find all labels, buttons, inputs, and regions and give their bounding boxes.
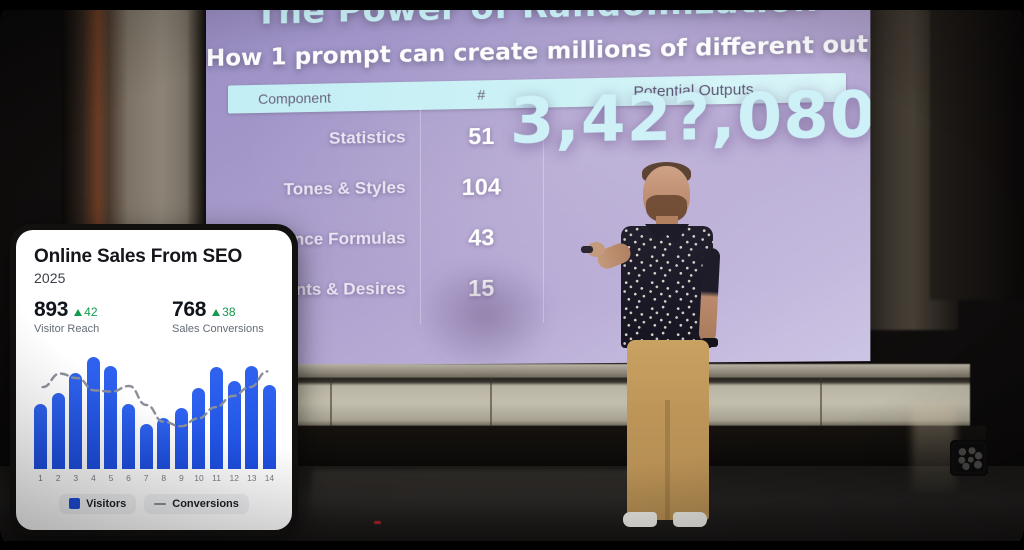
- x-tick-10: 10: [192, 473, 205, 483]
- row-count: 43: [420, 223, 543, 252]
- x-tick-2: 2: [52, 473, 65, 483]
- kpi-value: 893: [34, 298, 68, 322]
- letterbox-top: [0, 0, 1024, 10]
- legend-label: Conversions: [172, 498, 239, 510]
- bar-7[interactable]: [140, 424, 153, 469]
- x-tick-13: 13: [245, 473, 258, 483]
- kpi-delta-value: 42: [84, 305, 97, 319]
- triangle-up-icon: [74, 309, 82, 316]
- x-tick-3: 3: [69, 473, 82, 483]
- kpi-label: Sales Conversions: [172, 323, 274, 335]
- legend-item-visitors[interactable]: Visitors: [59, 494, 136, 514]
- stage-light-lens: [954, 444, 984, 472]
- row-count: 104: [420, 172, 543, 201]
- triangle-up-icon: [212, 309, 220, 316]
- stage-light-fixture: [950, 440, 988, 476]
- kpi-label: Visitor Reach: [34, 323, 154, 335]
- bar-1[interactable]: [34, 404, 47, 469]
- kpi-delta-value: 38: [222, 305, 235, 319]
- speaker-leg-seam: [665, 400, 670, 520]
- kpi-value: 768: [172, 298, 206, 322]
- legend-swatch-icon: [69, 498, 80, 509]
- bar-4[interactable]: [87, 357, 100, 469]
- card-title: Online Sales From SEO: [34, 246, 274, 268]
- speaker-right-arm: [699, 248, 721, 343]
- bar-10[interactable]: [192, 388, 205, 469]
- x-tick-4: 4: [87, 473, 100, 483]
- row-component: Tones & Styles: [228, 179, 420, 200]
- kpi-value-row: 768 38: [172, 298, 274, 322]
- kpi-visitor-reach: 893 42 Visitor Reach: [34, 298, 154, 335]
- bar-2[interactable]: [52, 393, 65, 469]
- x-tick-8: 8: [157, 473, 170, 483]
- panel-seam: [820, 378, 822, 426]
- bar-5[interactable]: [104, 366, 117, 469]
- x-tick-7: 7: [140, 473, 153, 483]
- x-tick-5: 5: [104, 473, 117, 483]
- x-axis-ticks: 1234567891011121314: [34, 473, 276, 483]
- floor-marker-tape: [374, 521, 381, 524]
- bar-3[interactable]: [69, 373, 82, 469]
- kpi-row: 893 42 Visitor Reach 768 38 Sales Conv: [34, 298, 274, 335]
- bar-8[interactable]: [157, 418, 170, 468]
- x-tick-11: 11: [210, 473, 223, 483]
- bar-14[interactable]: [263, 385, 276, 469]
- legend-item-conversions[interactable]: Conversions: [144, 494, 249, 514]
- slide-subtitle-prefix: How: [206, 45, 270, 72]
- right-wall-shadow: [930, 0, 1024, 300]
- bar-11[interactable]: [210, 367, 223, 469]
- x-tick-1: 1: [34, 473, 47, 483]
- speaker-right-shoe: [673, 512, 707, 527]
- bar-12[interactable]: [228, 381, 241, 468]
- bar-6[interactable]: [122, 404, 135, 469]
- x-tick-12: 12: [228, 473, 241, 483]
- speaker-cast-shadow: [405, 260, 565, 370]
- panel-seam: [330, 378, 332, 426]
- chart-legend[interactable]: Visitors Conversions: [34, 494, 274, 514]
- presentation-clicker: [581, 246, 593, 253]
- panel-seam: [490, 378, 492, 426]
- x-tick-6: 6: [122, 473, 135, 483]
- potential-outputs-value: 3,42?,080: [510, 78, 823, 158]
- bar-13[interactable]: [245, 366, 258, 469]
- card-year: 2025: [34, 270, 274, 286]
- legend-label: Visitors: [86, 498, 126, 510]
- chart-area[interactable]: [34, 349, 276, 469]
- stage-presentation-photo: The Power of Randomization How 1 prompt …: [0, 0, 1024, 550]
- slide-subtitle: How 1 prompt can create millions of diff…: [206, 31, 870, 72]
- slide-subtitle-suffix: prompt can create millions of different …: [287, 30, 871, 70]
- speaker-figure: [585, 150, 755, 550]
- col-header-component: Component: [228, 88, 420, 108]
- letterbox-bottom: [0, 541, 1024, 550]
- x-tick-14: 14: [263, 473, 276, 483]
- bar-series[interactable]: [34, 357, 276, 469]
- legend-dash-icon: [154, 503, 166, 505]
- kpi-sales-conversions: 768 38 Sales Conversions: [154, 298, 274, 335]
- analytics-card[interactable]: Online Sales From SEO 2025 893 42 Visito…: [16, 230, 292, 530]
- row-component: Statistics: [228, 128, 420, 149]
- x-tick-9: 9: [175, 473, 188, 483]
- bar-9[interactable]: [175, 408, 188, 468]
- speaker-left-shoe: [623, 512, 657, 527]
- kpi-delta: 42: [74, 305, 97, 319]
- kpi-delta: 38: [212, 305, 235, 319]
- kpi-value-row: 893 42: [34, 298, 154, 322]
- slide-subtitle-number: 1: [270, 44, 286, 70]
